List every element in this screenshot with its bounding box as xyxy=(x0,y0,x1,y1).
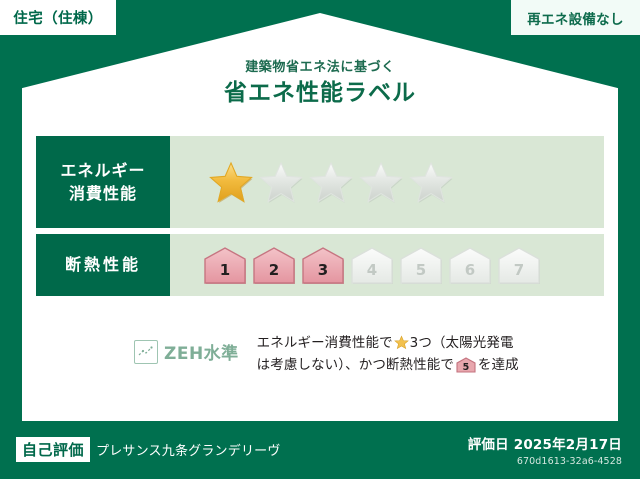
building-type-tag: 住宅（住棟） xyxy=(0,0,116,35)
metric-rows: エネルギー 消費性能 断熱性能 1234567 xyxy=(36,136,604,302)
self-evaluation: 自己評価 プレサンス九条グランデリーヴ xyxy=(16,437,281,462)
insulation-grade-inactive: 5 xyxy=(398,245,444,285)
insulation-grade-inactive: 4 xyxy=(349,245,395,285)
insulation-grade-number: 1 xyxy=(220,261,230,285)
star-rating xyxy=(208,160,454,204)
insulation-grade-number: 7 xyxy=(514,261,524,285)
inline-star-icon xyxy=(394,335,409,350)
energy-performance-label: 住宅（住棟） 再エネ設備なし 建築物省エネ法に基づく 省エネ性能ラベル エネルギ… xyxy=(0,0,640,479)
building-type-tag-label: 住宅（住棟） xyxy=(13,7,102,28)
insulation-grade-scale: 1234567 xyxy=(202,245,542,285)
zeh-note-line1-a: エネルギー消費性能で xyxy=(257,335,393,351)
renewable-energy-tag-label: 再エネ設備なし xyxy=(527,8,624,28)
zeh-label: ZEH水準 xyxy=(164,339,239,364)
row-energy-label: エネルギー 消費性能 xyxy=(36,136,170,228)
heading-title: 省エネ性能ラベル xyxy=(0,79,640,108)
evaluation-meta: 評価日 2025年2月17日 670d1613-32a6-4528 xyxy=(468,433,622,467)
row-insulation-body: 1234567 xyxy=(170,234,604,296)
inline-grade-house-number: 5 xyxy=(456,363,476,373)
building-name: プレサンス九条グランデリーヴ xyxy=(96,440,281,459)
insulation-grade-number: 3 xyxy=(318,261,328,285)
row-energy-label-line2: 消費性能 xyxy=(60,182,145,205)
zeh-note: ZEH水準 エネルギー消費性能で 3つ（太陽光発電 は考慮しない）、かつ断熱性能… xyxy=(36,333,600,377)
star-empty-icon xyxy=(408,160,454,204)
label-heading: 建築物省エネ法に基づく 省エネ性能ラベル xyxy=(0,60,640,107)
insulation-grade-number: 5 xyxy=(416,261,426,285)
row-insulation-label: 断熱性能 xyxy=(36,234,170,296)
star-filled-icon xyxy=(208,160,254,204)
self-evaluation-badge: 自己評価 xyxy=(16,437,90,462)
insulation-grade-number: 6 xyxy=(465,261,475,285)
insulation-grade-number: 4 xyxy=(367,261,377,285)
insulation-grade-active: 1 xyxy=(202,245,248,285)
insulation-grade-inactive: 6 xyxy=(447,245,493,285)
evaluation-date: 評価日 2025年2月17日 xyxy=(468,433,622,453)
zeh-note-line2-b: を達成 xyxy=(478,357,519,373)
label-footer: 自己評価 プレサンス九条グランデリーヴ 評価日 2025年2月17日 670d1… xyxy=(0,421,640,479)
zeh-note-text: エネルギー消費性能で 3つ（太陽光発電 は考慮しない）、かつ断熱性能で 5 を達… xyxy=(257,333,519,377)
row-energy-performance: エネルギー 消費性能 xyxy=(36,136,604,228)
zeh-badge: ZEH水準 xyxy=(134,333,239,364)
star-empty-icon xyxy=(258,160,304,204)
heading-subtitle: 建築物省エネ法に基づく xyxy=(0,60,640,76)
star-empty-icon xyxy=(358,160,404,204)
renewable-energy-tag: 再エネ設備なし xyxy=(511,0,640,35)
insulation-grade-number: 2 xyxy=(269,261,279,285)
zeh-note-line2-a: は考慮しない）、かつ断熱性能で xyxy=(257,357,454,373)
row-insulation-performance: 断熱性能 1234567 xyxy=(36,234,604,296)
row-energy-body xyxy=(170,136,604,228)
row-energy-label-line1: エネルギー xyxy=(60,159,145,182)
insulation-grade-active: 2 xyxy=(251,245,297,285)
star-empty-icon xyxy=(308,160,354,204)
insulation-grade-active: 3 xyxy=(300,245,346,285)
zeh-level-icon xyxy=(134,340,158,364)
evaluation-id: 670d1613-32a6-4528 xyxy=(468,456,622,467)
zeh-note-line1-b: 3つ（太陽光発電 xyxy=(410,335,514,351)
insulation-grade-inactive: 7 xyxy=(496,245,542,285)
inline-grade-house-icon: 5 xyxy=(456,357,476,373)
